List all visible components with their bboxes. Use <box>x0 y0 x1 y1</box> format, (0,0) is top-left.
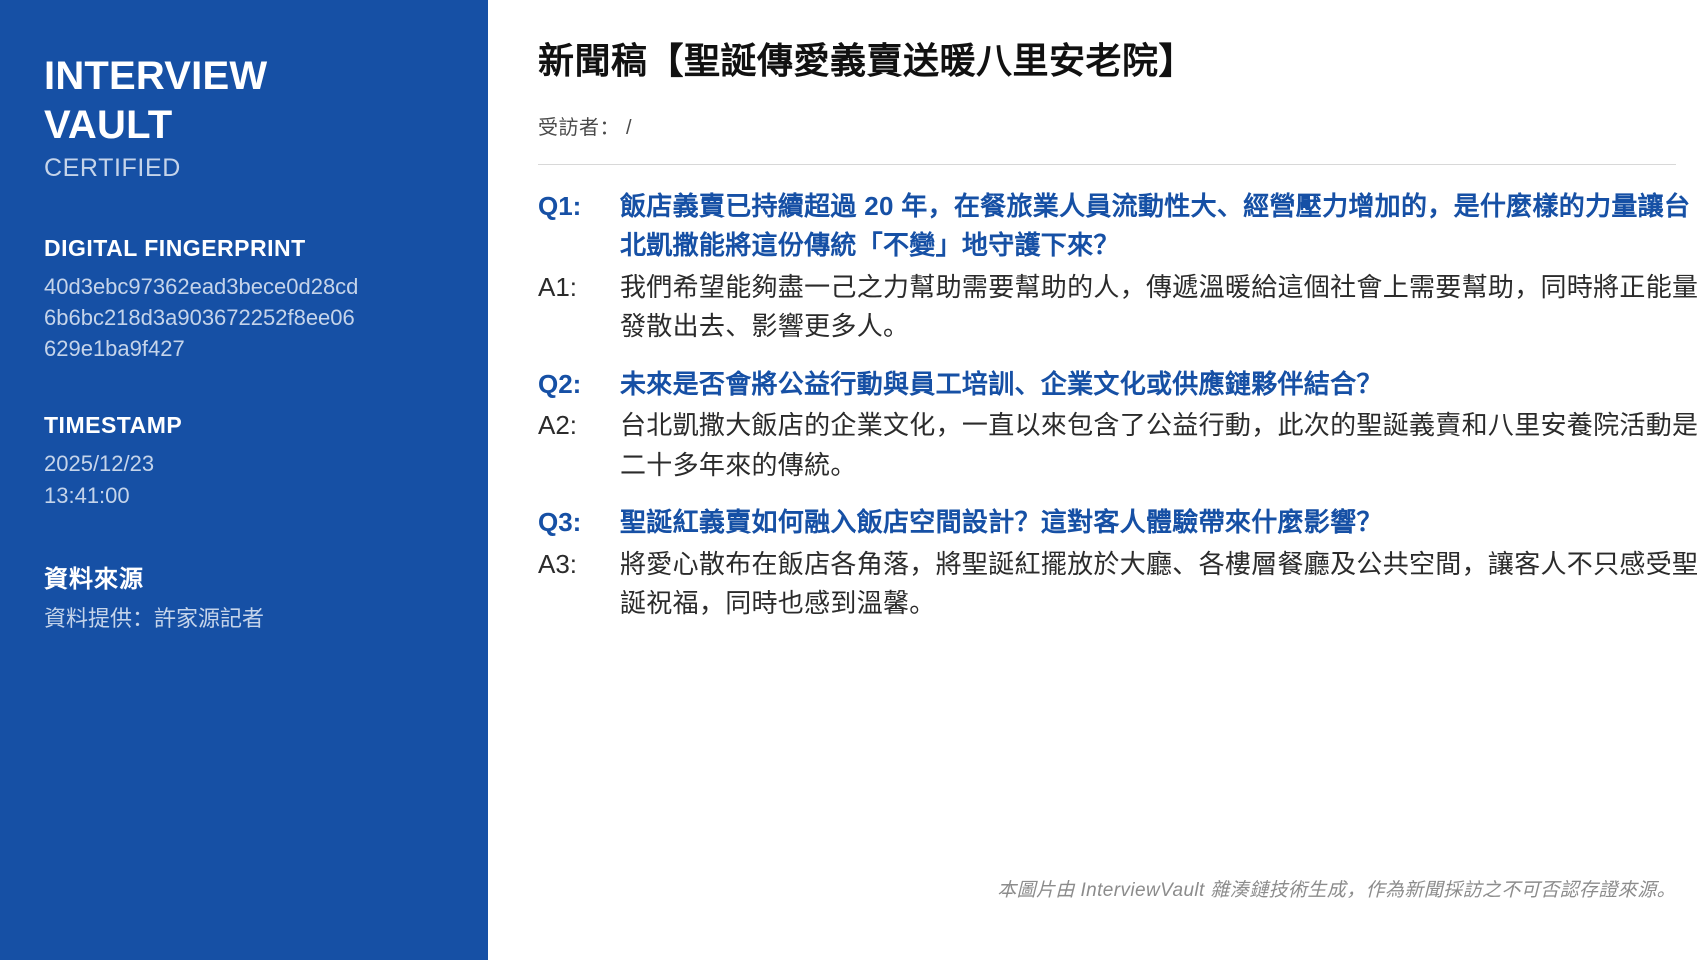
answer-row: A3: 將愛心散布在飯店各角落，將聖誕紅擺放於大廳、各樓層餐廳及公共空間，讓客人… <box>538 545 1706 624</box>
answer-label: A1: <box>538 268 620 308</box>
page-title: 新聞稿【聖誕傳愛義賣送暖八里安老院】 <box>538 38 1706 85</box>
question-text: 聖誕紅義賣如何融入飯店空間設計？這對客人體驗帶來什麼影響？ <box>620 503 1706 543</box>
digital-fingerprint-label: DIGITAL FINGERPRINT <box>44 235 444 262</box>
interview-vault-certificate: INTERVIEW VAULT CERTIFIED DIGITAL FINGER… <box>0 0 1706 960</box>
question-row: Q1: 飯店義賣已持續超過 20 年，在餐旅業人員流動性大、經營壓力增加的，是什… <box>538 187 1706 266</box>
answer-text: 台北凱撒大飯店的企業文化，一直以來包含了公益行動，此次的聖誕義賣和八里安養院活動… <box>620 406 1706 485</box>
question-label: Q3: <box>538 503 620 543</box>
question-text: 未來是否會將公益行動與員工培訓、企業文化或供應鏈夥伴結合？ <box>620 365 1706 405</box>
timestamp-date-value: 2025/12/23 <box>44 448 362 479</box>
qa-item: Q1: 飯店義賣已持續超過 20 年，在餐旅業人員流動性大、經營壓力增加的，是什… <box>538 187 1706 347</box>
main-content: 新聞稿【聖誕傳愛義賣送暖八里安老院】 受訪者： / Q1: 飯店義賣已持續超過 … <box>488 0 1706 960</box>
answer-label: A3: <box>538 545 620 585</box>
answer-label: A2: <box>538 406 620 446</box>
sidebar: INTERVIEW VAULT CERTIFIED DIGITAL FINGER… <box>0 0 488 960</box>
digital-fingerprint-block: DIGITAL FINGERPRINT 40d3ebc97362ead3bece… <box>44 235 444 365</box>
brand-title-line1: INTERVIEW <box>44 52 444 101</box>
interviewee-line: 受訪者： / <box>538 111 1706 140</box>
question-row: Q3: 聖誕紅義賣如何融入飯店空間設計？這對客人體驗帶來什麼影響？ <box>538 503 1706 543</box>
question-label: Q1: <box>538 187 620 227</box>
answer-row: A1: 我們希望能夠盡一己之力幫助需要幫助的人，傳遞溫暖給這個社會上需要幫助，同… <box>538 268 1706 347</box>
brand-block: INTERVIEW VAULT CERTIFIED <box>44 52 444 183</box>
source-block: 資料來源 資料提供：許家源記者 <box>44 559 444 634</box>
answer-text: 將愛心散布在飯店各角落，將聖誕紅擺放於大廳、各樓層餐廳及公共空間，讓客人不只感受… <box>620 545 1706 624</box>
answer-text: 我們希望能夠盡一己之力幫助需要幫助的人，傳遞溫暖給這個社會上需要幫助，同時將正能… <box>620 268 1706 347</box>
question-row: Q2: 未來是否會將公益行動與員工培訓、企業文化或供應鏈夥伴結合？ <box>538 365 1706 405</box>
footer-disclaimer: 本圖片由 InterviewVault 雜湊鏈技術生成，作為新聞採訪之不可否認存… <box>997 875 1676 902</box>
timestamp-label: TIMESTAMP <box>44 412 444 439</box>
brand-subtitle-certified: CERTIFIED <box>44 154 444 183</box>
question-text: 飯店義賣已持續超過 20 年，在餐旅業人員流動性大、經營壓力增加的，是什麼樣的力… <box>620 187 1706 266</box>
brand-title-line2: VAULT <box>44 101 444 150</box>
qa-list: Q1: 飯店義賣已持續超過 20 年，在餐旅業人員流動性大、經營壓力增加的，是什… <box>538 187 1706 624</box>
question-label: Q2: <box>538 365 620 405</box>
source-value: 資料提供：許家源記者 <box>44 603 362 634</box>
header-divider <box>538 164 1676 165</box>
timestamp-time-value: 13:41:00 <box>44 480 362 511</box>
digital-fingerprint-value: 40d3ebc97362ead3bece0d28cd6b6bc218d3a903… <box>44 271 362 365</box>
answer-row: A2: 台北凱撒大飯店的企業文化，一直以來包含了公益行動，此次的聖誕義賣和八里安… <box>538 406 1706 485</box>
source-label: 資料來源 <box>44 559 444 594</box>
timestamp-block: TIMESTAMP 2025/12/23 13:41:00 <box>44 412 444 510</box>
qa-item: Q3: 聖誕紅義賣如何融入飯店空間設計？這對客人體驗帶來什麼影響？ A3: 將愛… <box>538 503 1706 624</box>
qa-item: Q2: 未來是否會將公益行動與員工培訓、企業文化或供應鏈夥伴結合？ A2: 台北… <box>538 365 1706 486</box>
